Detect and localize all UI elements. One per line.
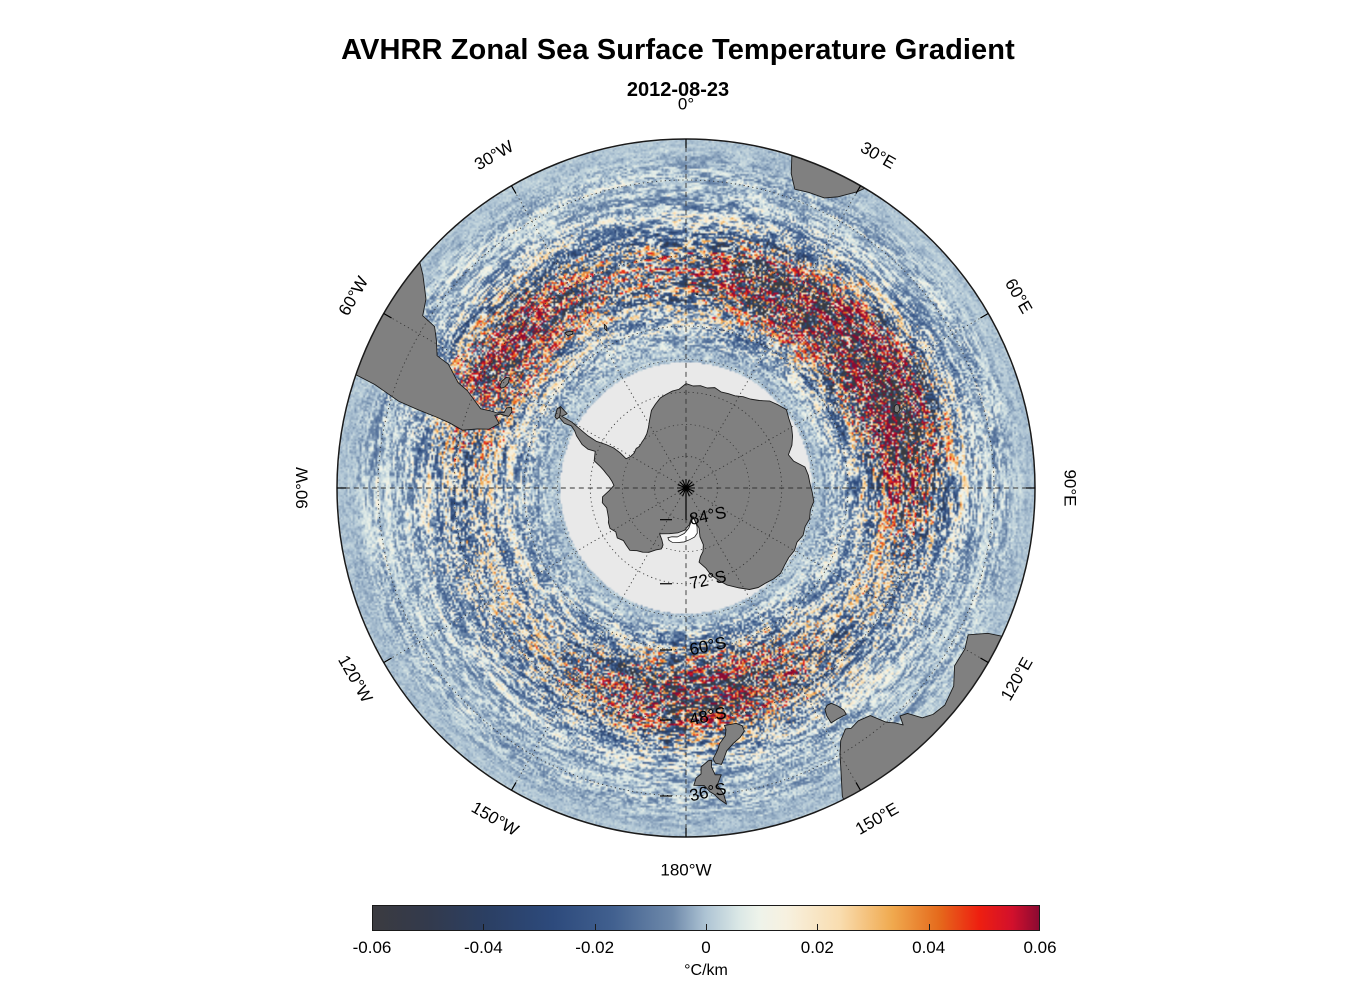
longitude-label--60: 60°W [335, 273, 372, 319]
colorbar-tick-label: -0.02 [575, 938, 614, 958]
colorbar[interactable]: -0.06-0.04-0.0200.020.040.06 [372, 905, 1040, 931]
bouvet-island [696, 294, 698, 295]
colorbar-tick [817, 924, 818, 931]
map-svg[interactable]: 0°30°E60°E90°E120°E150°E180°W150°W120°W9… [288, 118, 1084, 878]
heard-island [878, 430, 879, 432]
longitude-label-30: 30°E [857, 138, 899, 173]
colorbar-unit-label: °C/km [372, 962, 1040, 980]
colorbar-tick-label: 0.04 [912, 938, 945, 958]
madagascar-landmass [957, 132, 1029, 228]
longitude-label-0: 0° [678, 94, 694, 113]
colorbar-tick-label: -0.06 [353, 938, 392, 958]
longitude-label--120: 120°W [334, 652, 376, 706]
page-title: AVHRR Zonal Sea Surface Temperature Grad… [0, 34, 1356, 67]
longitude-label-60: 60°E [1001, 275, 1036, 317]
longitude-label-150: 150°E [852, 799, 902, 839]
longitude-label--150: 150°W [468, 798, 522, 840]
figure-canvas: AVHRR Zonal Sea Surface Temperature Grad… [0, 0, 1356, 1000]
polar-map[interactable]: 0°30°E60°E90°E120°E150°E180°W150°W120°W9… [288, 118, 1084, 878]
colorbar-tick [595, 924, 596, 931]
longitude-label-120: 120°E [997, 654, 1037, 704]
longitude-label-90: 90°E [1061, 469, 1080, 506]
longitude-label-180: 180°W [660, 860, 711, 879]
longitude-label--30: 30°W [471, 137, 517, 174]
colorbar-tick-label: 0 [701, 938, 710, 958]
title-block: AVHRR Zonal Sea Surface Temperature Grad… [0, 34, 1356, 102]
africa-landmass [785, 73, 927, 197]
longitude-label--90: 90°W [292, 467, 311, 509]
colorbar-tick-label: 0.06 [1023, 938, 1056, 958]
colorbar-tick-label: 0.02 [801, 938, 834, 958]
colorbar-tick [483, 924, 484, 931]
colorbar-tick [929, 924, 930, 931]
colorbar-tick-label: -0.04 [464, 938, 503, 958]
colorbar-tick [706, 924, 707, 931]
